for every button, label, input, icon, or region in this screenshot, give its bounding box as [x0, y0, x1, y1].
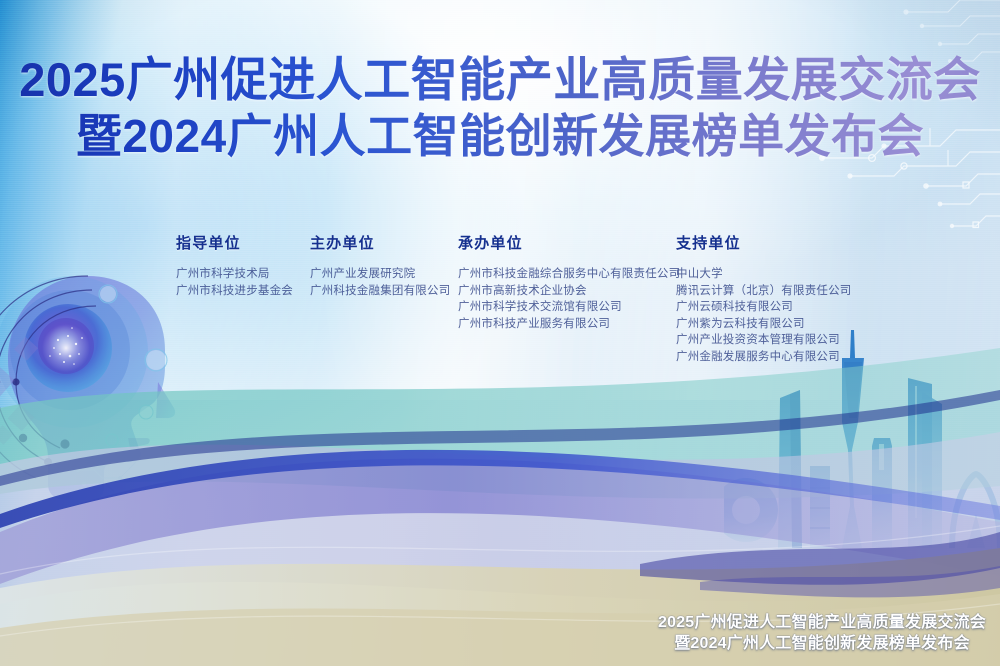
- page-title: 2025广州促进人工智能产业高质量发展交流会 暨2024广州人工智能创新发展榜单…: [0, 52, 1000, 164]
- title-line-2: 暨2024广州人工智能创新发展榜单发布会: [0, 108, 1000, 164]
- organization-item: 广州市科技进步基金会: [176, 283, 293, 300]
- organization-item: 广州市科学技术局: [176, 266, 293, 283]
- footer-watermark: 2025广州促进人工智能产业高质量发展交流会 暨2024广州人工智能创新发展榜单…: [658, 612, 986, 654]
- organization-item: 广州市科技产业服务有限公司: [458, 316, 680, 333]
- event-backdrop-screen: 2025广州促进人工智能产业高质量发展交流会 暨2024广州人工智能创新发展榜单…: [0, 0, 1000, 666]
- organization-item: 中山大学: [676, 266, 852, 283]
- organization-heading: 指导单位: [176, 232, 293, 253]
- organization-column-organizer: 承办单位 广州市科技金融综合服务中心有限责任公司 广州市高新技术企业协会 广州市…: [458, 232, 680, 332]
- title-line-1: 2025广州促进人工智能产业高质量发展交流会: [0, 52, 1000, 108]
- organization-item: 腾讯云计算（北京）有限责任公司: [676, 283, 852, 300]
- organization-column-host: 主办单位 广州产业发展研究院 广州科技金融集团有限公司: [310, 232, 450, 299]
- organization-item: 广州金融发展服务中心有限公司: [676, 349, 852, 366]
- organization-item: 广州市高新技术企业协会: [458, 283, 680, 300]
- organization-item: 广州产业投资资本管理有限公司: [676, 332, 852, 349]
- organization-heading: 支持单位: [676, 232, 852, 253]
- organization-heading: 承办单位: [458, 232, 680, 253]
- organization-item: 广州紫为云科技有限公司: [676, 316, 852, 333]
- organization-item: 广州市科学技术交流馆有限公司: [458, 299, 680, 316]
- organization-item: 广州云硕科技有限公司: [676, 299, 852, 316]
- organization-heading: 主办单位: [310, 232, 450, 253]
- watermark-line-2: 暨2024广州人工智能创新发展榜单发布会: [658, 633, 986, 654]
- organization-column-guidance: 指导单位 广州市科学技术局 广州市科技进步基金会: [176, 232, 293, 299]
- watermark-line-1: 2025广州促进人工智能产业高质量发展交流会: [658, 612, 986, 633]
- organization-item: 广州产业发展研究院: [310, 266, 450, 283]
- organization-item: 广州科技金融集团有限公司: [310, 283, 450, 300]
- organization-column-support: 支持单位 中山大学 腾讯云计算（北京）有限责任公司 广州云硕科技有限公司 广州紫…: [676, 232, 852, 365]
- organization-item: 广州市科技金融综合服务中心有限责任公司: [458, 266, 680, 283]
